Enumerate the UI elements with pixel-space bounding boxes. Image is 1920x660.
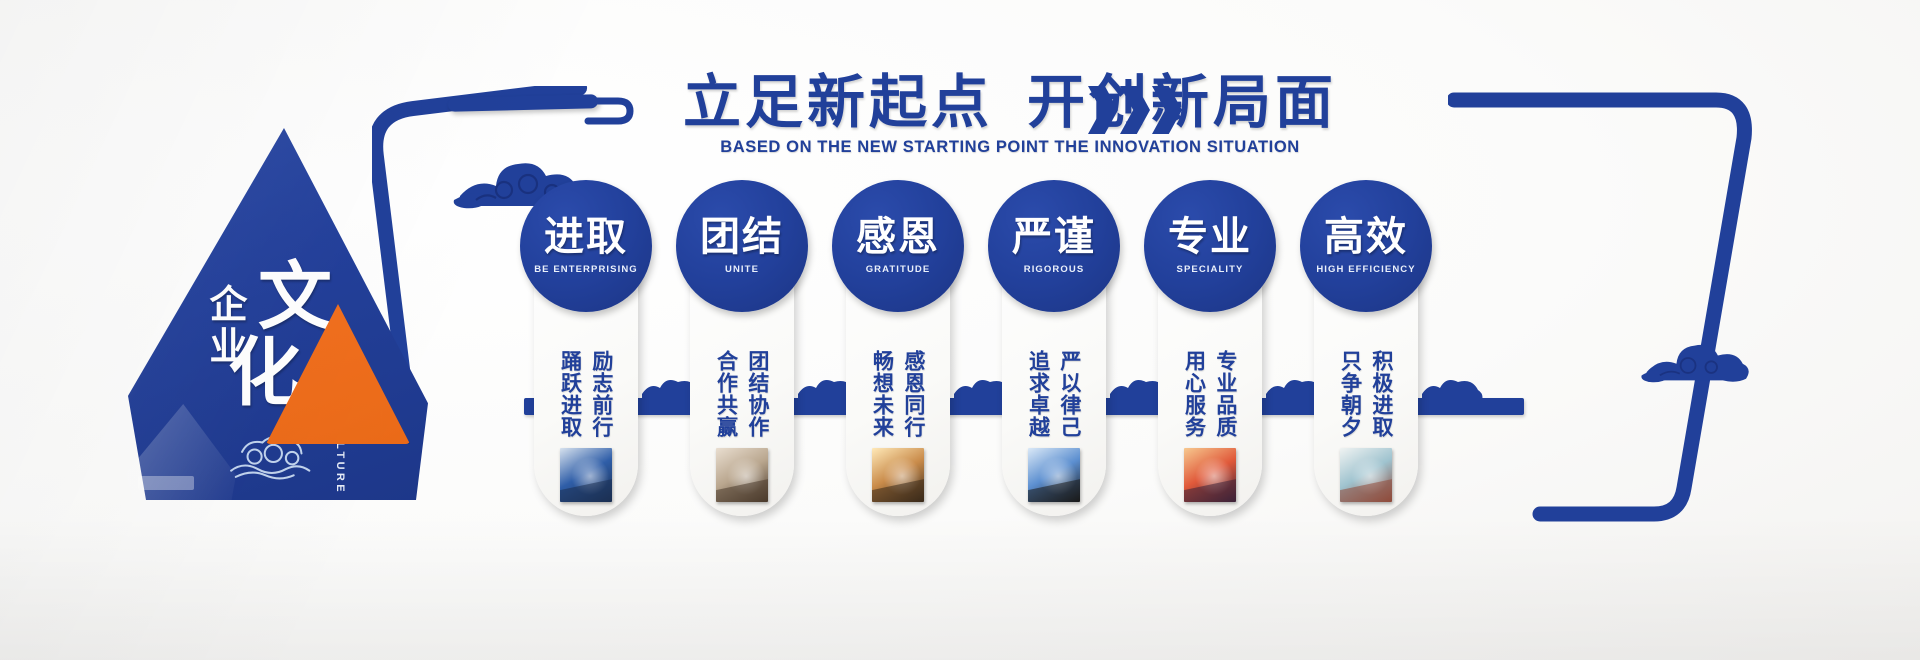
pillar-slogan: 团结协作合作共赢	[690, 350, 794, 438]
pillar-badge-circle[interactable]: 严谨RIGOROUS	[988, 180, 1120, 312]
pillar-slogan-col-b: 追求卓越	[1026, 350, 1050, 438]
pillar-slogan-col-a: 感恩同行	[902, 350, 926, 438]
pillar-slogan-col-b: 用心服务	[1182, 350, 1206, 438]
pillar-slogan-col-a: 严以律己	[1058, 350, 1082, 438]
pillar-card-6[interactable]: 高效HIGH EFFICIENCY积极进取只争朝夕	[1314, 198, 1418, 516]
pillar-slogan-col-b: 合作共赢	[714, 350, 738, 438]
pillar-title-cn: 团结	[700, 217, 784, 257]
pillar-title-cn: 专业	[1168, 217, 1252, 257]
logo-small-plaque	[138, 476, 194, 490]
stopwatch-in-hand-photo	[1340, 448, 1392, 502]
pillar-badge-circle[interactable]: 高效HIGH EFFICIENCY	[1300, 180, 1432, 312]
pillar-badge-circle[interactable]: 专业SPECIALITY	[1144, 180, 1276, 312]
helping-hand-sunset-photo	[872, 448, 924, 502]
climber-ice-axe-photo	[560, 448, 612, 502]
pillar-slogan-col-b: 畅想未来	[870, 350, 894, 438]
rail-cloud-bump-icon	[1420, 374, 1484, 400]
pillar-badge-circle[interactable]: 团结UNITE	[676, 180, 808, 312]
headline-block: 立足新起点开创新局面 BASED ON THE NEW STARTING POI…	[660, 72, 1360, 157]
dancer-sunset-photo	[1184, 448, 1236, 502]
pillar-card-5[interactable]: 专业SPECIALITY专业品质用心服务	[1158, 198, 1262, 516]
pillar-slogan: 严以律己追求卓越	[1002, 350, 1106, 438]
pillar-title-en: UNITE	[725, 264, 759, 275]
pillar-title-en: BE ENTERPRISING	[534, 264, 638, 275]
headline-cn-left: 立足新起点	[683, 68, 993, 136]
pillar-slogan-col-a: 团结协作	[746, 350, 770, 438]
pillar-card-4[interactable]: 严谨RIGOROUS严以律己追求卓越	[1002, 198, 1106, 516]
pillar-badge-circle[interactable]: 进取BE ENTERPRISING	[520, 180, 652, 312]
pillar-card-2[interactable]: 团结UNITE团结协作合作共赢	[690, 198, 794, 516]
eagle-flight-photo	[1028, 448, 1080, 502]
pillar-slogan: 励志前行踊跃进取	[534, 350, 638, 438]
pillar-card-1[interactable]: 进取BE ENTERPRISING励志前行踊跃进取	[534, 198, 638, 516]
company-culture-logo: 企业 文 化 COMPANY CULTURE	[128, 128, 428, 500]
frame-top-hook-icon	[566, 92, 636, 132]
pillar-title-cn: 严谨	[1012, 217, 1096, 257]
pillar-title-en: SPECIALITY	[1177, 264, 1244, 275]
pillar-title-en: RIGOROUS	[1024, 264, 1085, 275]
pillar-slogan-col-a: 励志前行	[590, 350, 614, 438]
pillar-slogan-col-b: 只争朝夕	[1338, 350, 1362, 438]
pillar-title-cn: 高效	[1324, 217, 1408, 257]
pillar-slogan-col-a: 积极进取	[1370, 350, 1394, 438]
cloud-right-icon	[1640, 330, 1756, 386]
logo-cn-wen: 文	[258, 260, 332, 334]
chevron-right-icon	[1088, 86, 1118, 134]
pillar-title-en: GRATITUDE	[866, 264, 931, 275]
chevron-arrows	[1088, 86, 1182, 134]
pillar-slogan: 感恩同行畅想未来	[846, 350, 950, 438]
culture-wall-canvas: 企业 文 化 COMPANY CULTURE 立足新起点开创新局面 BASED …	[0, 0, 1920, 660]
headline-cn: 立足新起点开创新局面	[660, 72, 1360, 133]
headline-en: BASED ON THE NEW STARTING POINT THE INNO…	[660, 138, 1360, 157]
pillar-title-en: HIGH EFFICIENCY	[1316, 264, 1415, 275]
base-rail-segment	[1412, 398, 1524, 415]
chevron-right-icon	[1152, 86, 1182, 134]
pillar-slogan: 积极进取只争朝夕	[1314, 350, 1418, 438]
pillar-card-3[interactable]: 感恩GRATITUDE感恩同行畅想未来	[846, 198, 950, 516]
chevron-right-icon	[1120, 86, 1150, 134]
pillar-slogan: 专业品质用心服务	[1158, 350, 1262, 438]
pillar-badge-circle[interactable]: 感恩GRATITUDE	[832, 180, 964, 312]
frame-right-path	[1448, 84, 1778, 524]
pillar-title-cn: 感恩	[856, 217, 940, 257]
pillar-slogan-col-a: 专业品质	[1214, 350, 1238, 438]
pillar-title-cn: 进取	[544, 217, 628, 257]
pillar-slogan-col-b: 踊跃进取	[558, 350, 582, 438]
hands-together-photo	[716, 448, 768, 502]
headline-cn-right: 开创新局面	[1027, 68, 1337, 136]
